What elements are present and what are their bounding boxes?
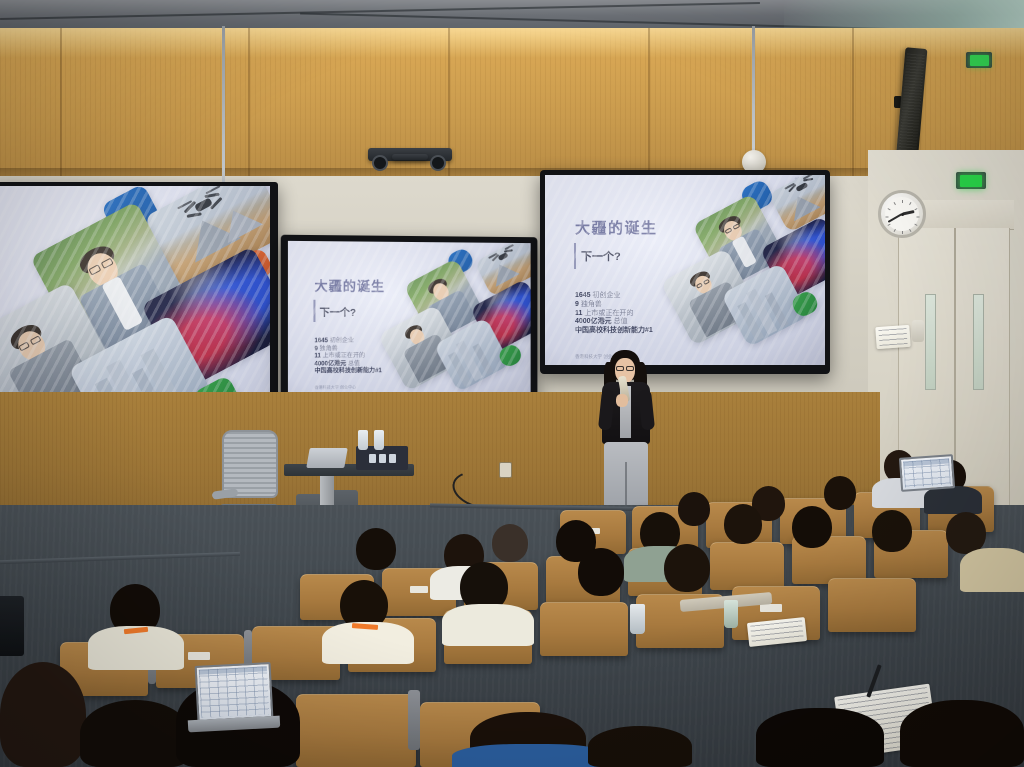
stat-label: 上市或正在开的 (323, 353, 365, 359)
right-slide-content: 创业的种子 大疆的诞生 下一个? 1645 初创企业 9 独角兽 11 上市或正… (545, 175, 825, 365)
projector-lens-center-2 (430, 155, 446, 171)
seat-back[interactable] (710, 542, 784, 590)
center-slide-subtitle: 下一个? (320, 304, 357, 319)
center-slide-footer: 香港科技大学 创业中心 (314, 384, 356, 390)
presenter-glasses (616, 366, 624, 371)
attendee-head-foreground (900, 700, 1024, 767)
stat-label: 独角兽 (581, 301, 602, 308)
center-slide-title: 大疆的诞生 (314, 275, 385, 294)
wall-uplight (0, 28, 1024, 58)
clock-face (885, 197, 919, 231)
seat-divider (408, 690, 420, 750)
wall-power-outlet[interactable] (499, 462, 512, 478)
attendee-water-bottle[interactable] (724, 600, 738, 628)
stat-label: 独角兽 (320, 346, 338, 352)
chair-backrest (222, 430, 278, 498)
door-vision-panel-right (973, 294, 984, 390)
right-display-surface: 创业的种子 大疆的诞生 下一个? 1645 初创企业 9 独角兽 11 上市或正… (545, 175, 825, 365)
seat-number-tag (188, 652, 210, 660)
attendee-head (792, 506, 832, 548)
stat-label: 上市或正在开的 (584, 310, 633, 317)
attendee-shoulders (960, 548, 1024, 592)
seat-back[interactable] (296, 694, 416, 767)
control-led (379, 454, 386, 463)
center-slide-content: 创业的种子 大疆的诞生 下一个? 1645 初创企业 9 独角兽 11 上市或正… (288, 241, 531, 395)
attendee-laptop-screen[interactable] (899, 454, 955, 492)
attendee-head (664, 544, 710, 592)
right-display: 创业的种子 大疆的诞生 下一个? 1645 初创企业 9 独角兽 11 上市或正… (540, 170, 830, 374)
door-vision-panel-left (925, 294, 936, 390)
right-slide-stats: 1645 初创企业 9 独角兽 11 上市或正在开的 4000亿港元 总值 中国… (575, 292, 653, 336)
wall-clock (878, 190, 926, 238)
attendee-head-foreground (588, 726, 692, 767)
attendee-head (356, 528, 396, 570)
stat-label: 初创企业 (593, 292, 621, 299)
stat-value: 4000亿港元 (314, 361, 346, 367)
attendee-head (80, 700, 190, 767)
attendee-water-bottle[interactable] (630, 604, 645, 634)
center-slide-accent-bar (313, 300, 315, 322)
exit-sign-rear-wall (966, 52, 992, 68)
attendee-laptop-screen[interactable] (195, 662, 274, 722)
attendee-head (492, 524, 528, 562)
attendee-head (872, 510, 912, 552)
stat-value: 1645 (575, 292, 591, 299)
attendee-head (724, 504, 762, 544)
slide-highlight: 中国高校科技创新能力#1 (314, 368, 381, 376)
stat-value: 11 (314, 353, 320, 359)
lecture-hall-scene: 创业的种子 大疆的诞生 下一个? 1645 初创企业 9 独角兽 11 上市或正… (0, 0, 1024, 767)
stat-value: 4000亿港元 (575, 318, 612, 325)
control-led (369, 454, 376, 463)
right-slide-accent-bar (574, 243, 576, 269)
projector-bracket-center (392, 154, 428, 160)
attendee-head (578, 548, 624, 596)
clock-hour-hand (902, 210, 914, 215)
presenter (588, 350, 668, 510)
presenter-hand (616, 394, 628, 407)
attendee-shoulders (442, 604, 534, 646)
center-display-surface: 创业的种子 大疆的诞生 下一个? 1645 初创企业 9 独角兽 11 上市或正… (288, 241, 531, 395)
stat-value: 9 (314, 346, 317, 352)
water-bottle[interactable] (374, 430, 384, 450)
presenter-arm-right (638, 389, 655, 430)
exit-sign-over-door (956, 172, 986, 189)
seat-back[interactable] (540, 602, 628, 656)
slide-highlight: 中国高校科技创新能力#1 (575, 327, 653, 336)
spreadsheet-grid (199, 666, 269, 717)
attendee-head (678, 492, 710, 526)
right-slide-subtitle: 下一个? (581, 248, 621, 264)
attendee-head (824, 476, 856, 510)
projector-lens-center-1 (372, 155, 388, 171)
attendee-shoulders (924, 486, 982, 514)
presenter-glasses-2 (626, 366, 634, 371)
stat-value: 9 (575, 301, 579, 308)
stat-label: 总值 (614, 318, 628, 325)
cart-laptop[interactable] (306, 448, 348, 468)
projector-drop-rod-left (222, 26, 225, 196)
stat-label: 初创企业 (330, 338, 354, 344)
water-bottle[interactable] (358, 430, 368, 450)
hand-sanitizer-dispenser[interactable] (912, 320, 924, 342)
pendant-rod-right (752, 26, 755, 152)
center-display: 创业的种子 大疆的诞生 下一个? 1645 初创企业 9 独角兽 11 上市或正… (281, 235, 538, 408)
seat-back[interactable] (828, 578, 916, 632)
seat-number-tag (760, 604, 782, 612)
attendee-head-foreground (756, 708, 884, 767)
center-slide-stats: 1645 初创企业 9 独角兽 11 上市或正在开的 4000亿港元 总值 中国… (314, 338, 381, 376)
door-notice-sign (875, 325, 910, 349)
stat-value: 11 (575, 310, 582, 317)
right-slide-title: 大疆的诞生 (575, 217, 658, 238)
stat-value: 1645 (314, 338, 328, 344)
control-led (389, 454, 396, 463)
stat-label: 总值 (348, 361, 360, 367)
exit-sign-glyph (960, 175, 982, 187)
chair-armrest (212, 488, 239, 500)
floor-equipment-case (0, 596, 24, 656)
attendee-head (0, 662, 86, 767)
